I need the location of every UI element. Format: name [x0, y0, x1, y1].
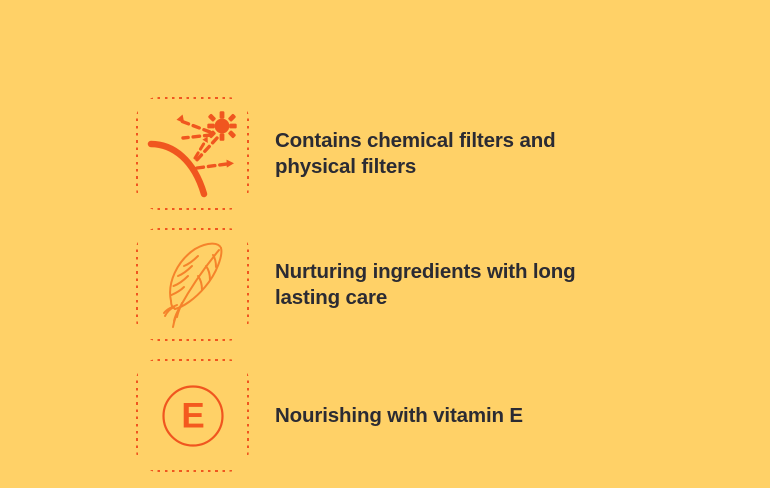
feature-text-nurturing-line-1: Nurturing ingredients with long	[275, 259, 576, 285]
feature-row-vitamin-e: E Nourishing with vitamin E	[136, 359, 736, 472]
vitamin-e-circle-icon: E	[147, 370, 239, 462]
feature-row-filters: Contains chemical filters and physical f…	[136, 97, 736, 210]
feature-text-filters: Contains chemical filters and physical f…	[275, 128, 555, 180]
feature-text-vitamin-e: Nourishing with vitamin E	[275, 403, 523, 429]
icon-box-feather	[136, 228, 249, 341]
icon-box-filters	[136, 97, 249, 210]
feature-row-nurturing: Nurturing ingredients with long lasting …	[136, 228, 736, 341]
feature-text-nurturing-line-2: lasting care	[275, 285, 576, 311]
feature-list: Contains chemical filters and physical f…	[136, 97, 736, 472]
uv-filter-sun-rays-icon	[147, 108, 239, 200]
feather-icon	[147, 239, 239, 331]
feature-text-filters-line-1: Contains chemical filters and	[275, 128, 555, 154]
vitamin-e-letter: E	[181, 396, 204, 435]
feature-text-filters-line-2: physical filters	[275, 154, 555, 180]
feature-text-vitamin-e-line-1: Nourishing with vitamin E	[275, 403, 523, 429]
icon-box-vitamin-e: E	[136, 359, 249, 472]
feature-text-nurturing: Nurturing ingredients with long lasting …	[275, 259, 576, 311]
infographic-canvas: Contains chemical filters and physical f…	[0, 0, 770, 488]
